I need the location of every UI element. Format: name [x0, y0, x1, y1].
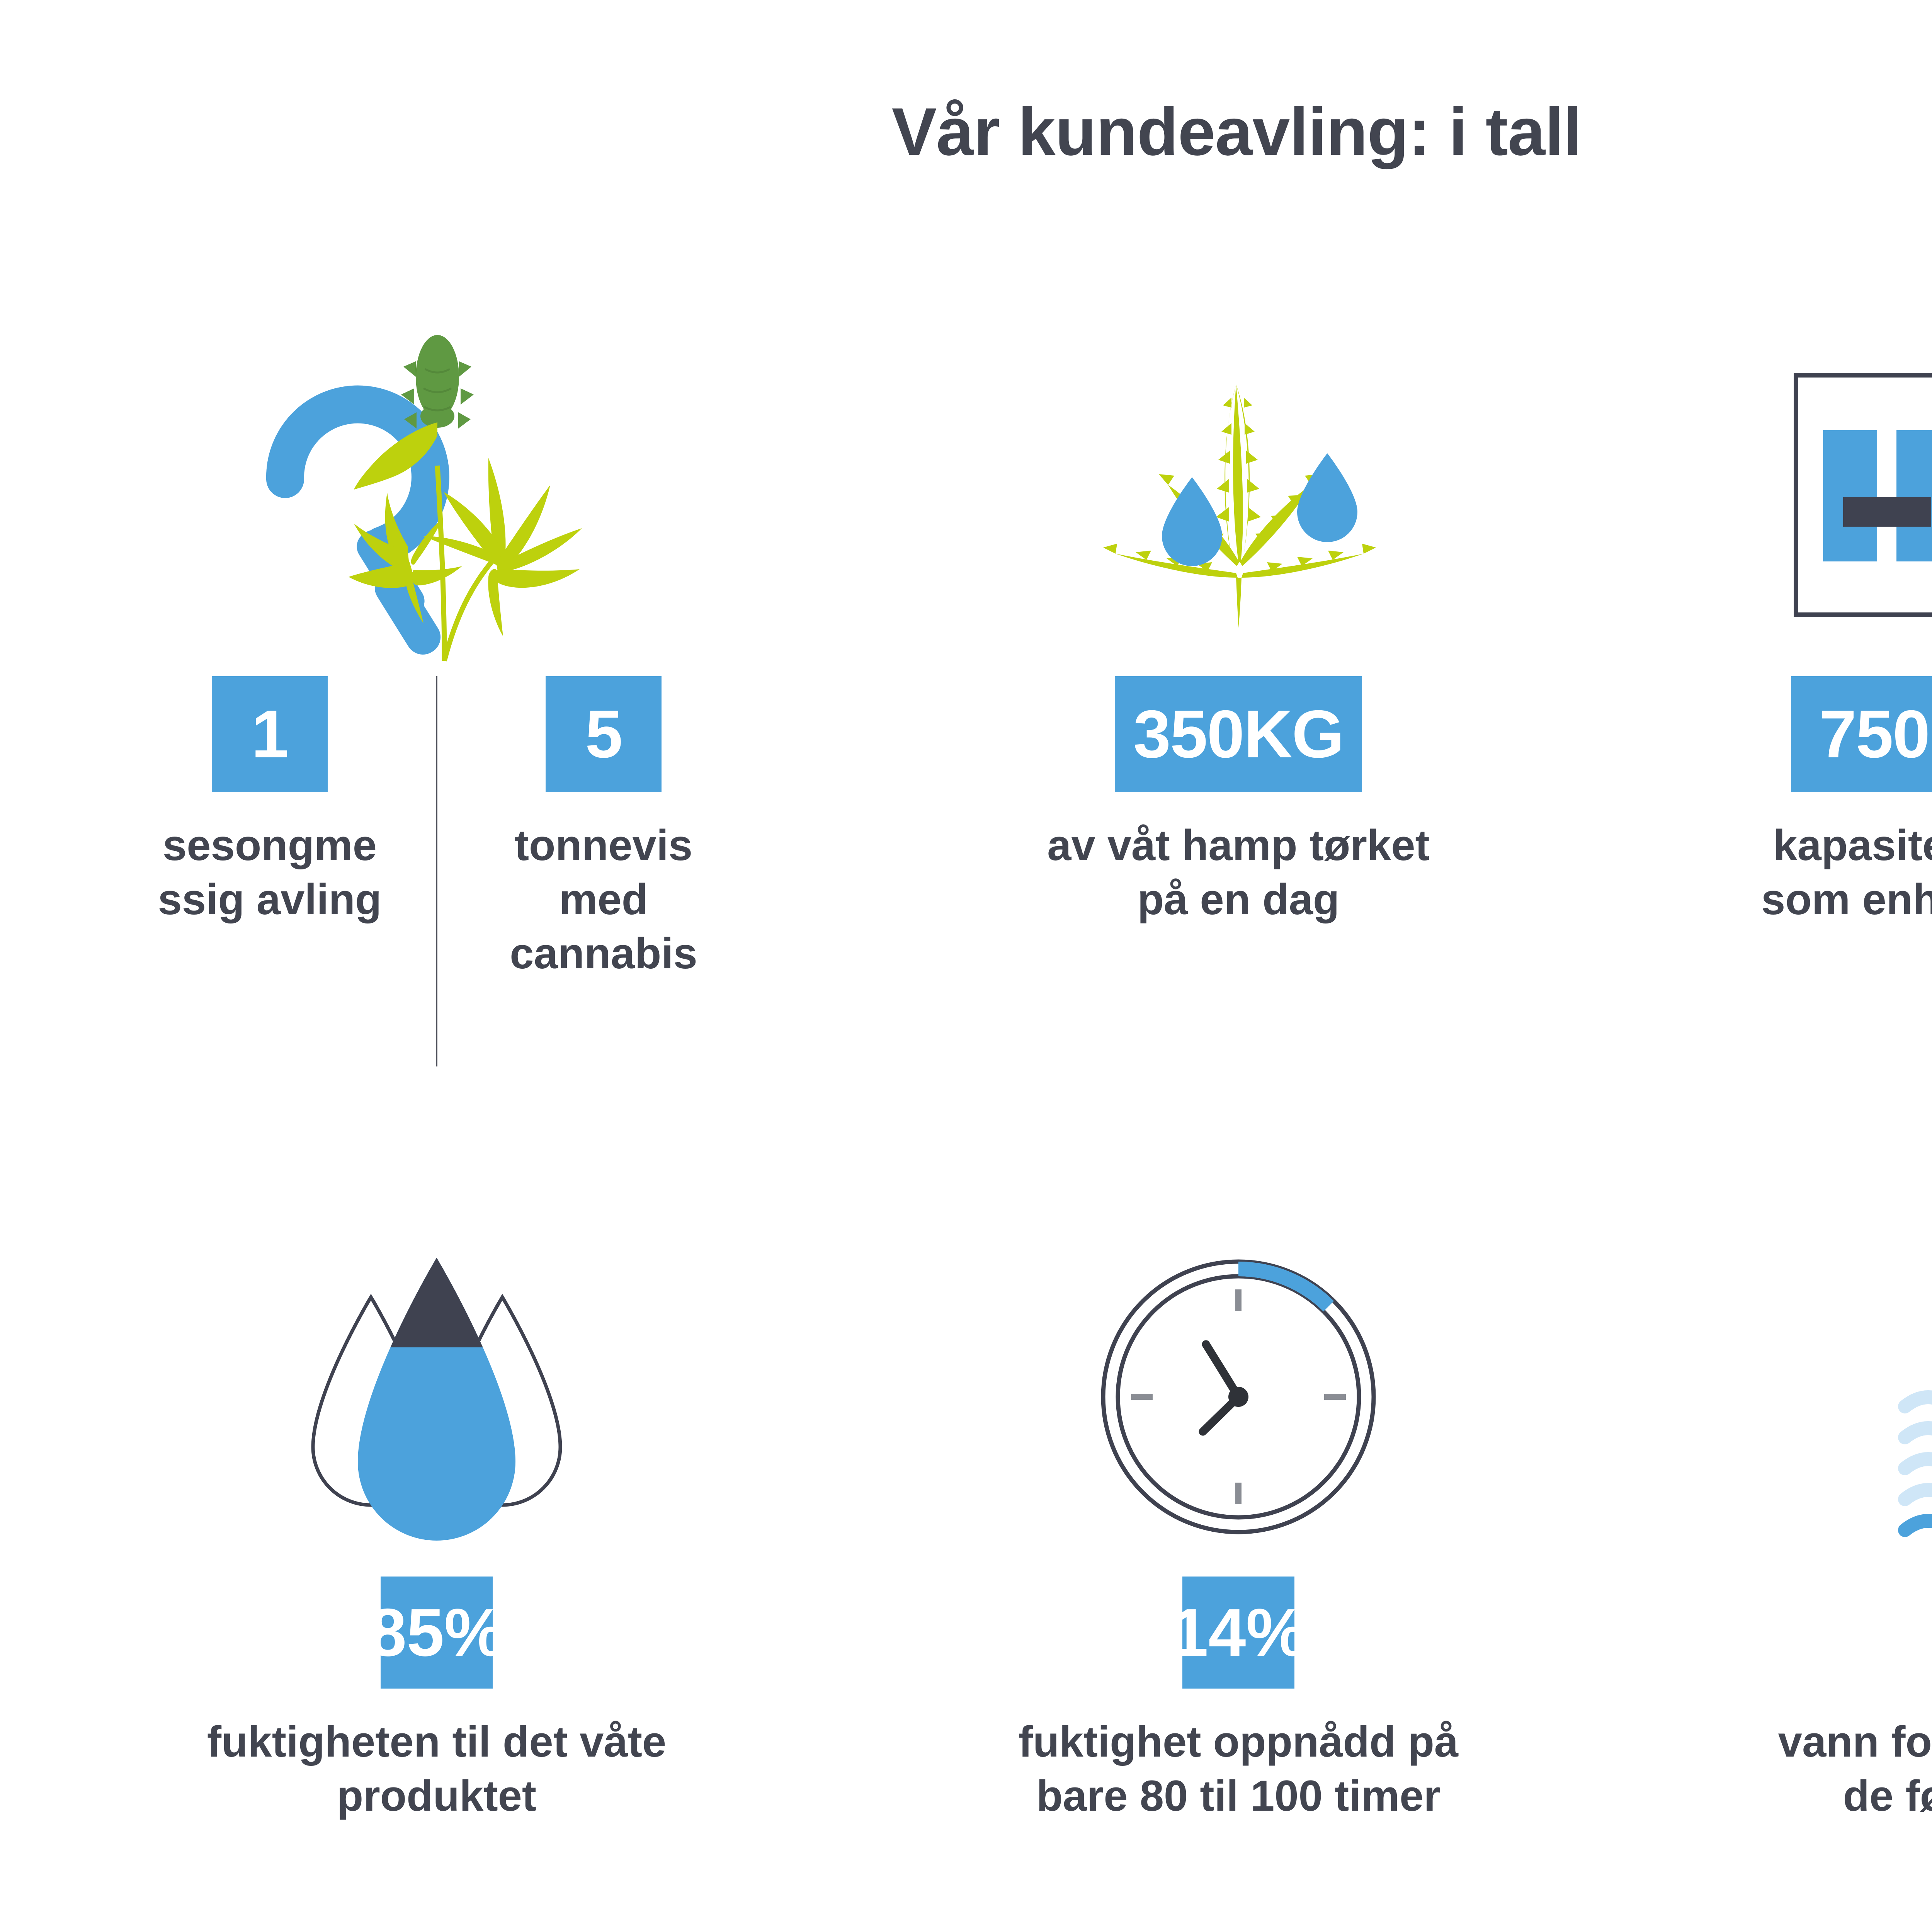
- evaporation-waves-icon: [1889, 1244, 1932, 1549]
- stat-divider: [436, 676, 437, 1066]
- water-drop-left: [1162, 477, 1222, 566]
- shipping-container-icon: [1793, 369, 1932, 624]
- sickle-cannabis-plant-icon: [263, 330, 611, 663]
- stat-card-grid: 1 sesongme ssig avling 5 tonnevis med ca…: [66, 305, 1932, 1932]
- stat-card-evaporation: 80% vann fordampet i løpet av de første …: [1669, 1206, 1932, 1932]
- stat-caption: tonnevis med cannabis: [510, 818, 697, 981]
- stat-caption: fuktighet oppnådd på bare 80 til 100 tim…: [1019, 1715, 1459, 1823]
- stat-zone: 80% vann fordampet i løpet av de første …: [1669, 1577, 1932, 1932]
- clock-center-pin: [1228, 1387, 1248, 1407]
- water-drop-right: [1297, 453, 1357, 542]
- stat-zone: 750KG-850KG kapasiteten til beholderen s…: [1669, 676, 1932, 1148]
- stat-card-target-moisture: 14% fuktighet oppnådd på bare 80 til 100…: [867, 1206, 1609, 1932]
- icon-zone: [1669, 1206, 1932, 1577]
- stat-caption: kapasiteten til beholderen som enheten b…: [1761, 818, 1932, 927]
- icon-zone: [1669, 305, 1932, 676]
- icon-zone: [66, 1206, 808, 1577]
- clock-icon: [1092, 1250, 1385, 1544]
- stat-badge: 85%: [381, 1577, 493, 1689]
- icon-zone: [867, 1206, 1609, 1577]
- cannabis-leaf-water-drops-icon: [1080, 361, 1397, 632]
- stat-zone: 14% fuktighet oppnådd på bare 80 til 100…: [867, 1577, 1609, 1932]
- stat-badge: 750KG-850KG: [1791, 676, 1932, 792]
- stat-badge: 5: [546, 676, 662, 792]
- stat-zone: 1 sesongme ssig avling 5 tonnevis med ca…: [66, 676, 808, 1148]
- stat-card-harvest: 1 sesongme ssig avling 5 tonnevis med ca…: [66, 305, 808, 1148]
- stat-card-container-capacity: 750KG-850KG kapasiteten til beholderen s…: [1669, 305, 1932, 1148]
- stat-caption: sesongme ssig avling: [158, 818, 382, 927]
- stat-caption: vann fordampet i løpet av de første 48 t…: [1778, 1715, 1932, 1823]
- icon-zone: [867, 305, 1609, 676]
- stat-badge: 1: [212, 676, 328, 792]
- stat-block-seasonal: 1 sesongme ssig avling: [146, 676, 393, 927]
- stat-zone: 350KG av våt hamp tørket på en dag: [867, 676, 1609, 1148]
- infographic-page: Vår kundeavling: i tall: [0, 0, 1932, 1932]
- page-title: Vår kundeavling: i tall: [0, 97, 1932, 168]
- stat-block-tonnage: 5 tonnevis med cannabis: [480, 676, 727, 981]
- stat-zone: 85% fuktigheten til det våte produktet: [66, 1577, 808, 1932]
- stat-card-wet-moisture: 85% fuktigheten til det våte produktet: [66, 1206, 808, 1932]
- water-waves: [1905, 1397, 1932, 1539]
- stat-caption: fuktigheten til det våte produktet: [207, 1715, 667, 1823]
- water-droplets-icon: [290, 1238, 583, 1555]
- stat-badge: 350KG: [1115, 676, 1362, 792]
- stat-card-dried-hemp: 350KG av våt hamp tørket på en dag: [867, 305, 1609, 1148]
- dual-stat-group: 1 sesongme ssig avling 5 tonnevis med ca…: [66, 676, 808, 1066]
- icon-zone: [66, 305, 808, 676]
- stat-caption: av våt hamp tørket på en dag: [1047, 818, 1430, 927]
- stat-badge: 14%: [1182, 1577, 1294, 1689]
